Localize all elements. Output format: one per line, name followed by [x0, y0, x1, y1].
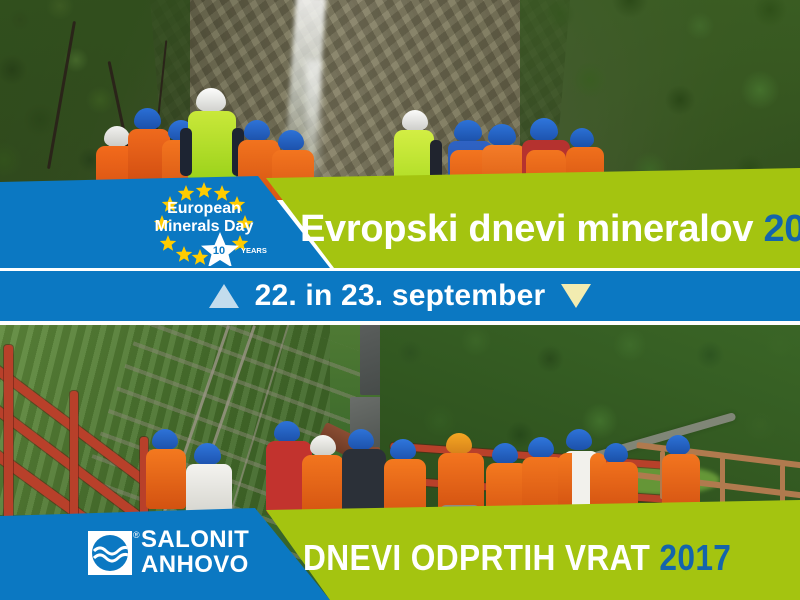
fence-post: [720, 457, 725, 505]
emd-logo-line1: European: [167, 200, 241, 217]
eu-star: [178, 185, 194, 201]
top-photo: [0, 0, 800, 200]
eu-star: [196, 182, 212, 198]
emd-logo-badge-label: YEARS: [241, 246, 267, 255]
emd-logo-line2: Minerals Day: [155, 218, 254, 235]
eu-star: [192, 249, 208, 265]
eu-star: [214, 185, 230, 201]
bottom-title-year: 2017: [659, 537, 731, 578]
salonit-line2: ANHOVO: [141, 553, 249, 578]
salonit-line1: SALONIT: [141, 528, 249, 553]
top-title-text: Evropski dnevi mineralov: [300, 208, 753, 250]
bottom-title: DNEVI ODPRTIH VRAT 2017: [303, 540, 731, 576]
eu-star: [176, 246, 192, 262]
event-banner: 10 YEARS European Minerals Day Evropski …: [0, 0, 800, 600]
emd-logo-badge-number: 10: [213, 245, 225, 257]
top-title: Evropski dnevi mineralov 2017: [300, 210, 800, 248]
triangle-down-icon: [561, 284, 591, 308]
bottom-title-text: DNEVI ODPRTIH VRAT: [303, 537, 650, 578]
salonit-wordmark: SALONIT ANHOVO: [141, 528, 249, 577]
eu-star: [160, 235, 176, 251]
railing-post: [4, 345, 13, 535]
salonit-mark-icon: ®: [88, 531, 132, 575]
registered-trademark-icon: ®: [133, 530, 140, 540]
triangle-up-icon: [209, 284, 239, 308]
european-minerals-day-logo: 10 YEARS European Minerals Day: [140, 182, 268, 266]
salonit-anhovo-logo: ® SALONIT ANHOVO: [88, 528, 249, 577]
event-date: 22. in 23. september: [255, 279, 546, 313]
date-row: 22. in 23. september: [0, 271, 800, 321]
top-title-year: 2017: [763, 208, 800, 250]
